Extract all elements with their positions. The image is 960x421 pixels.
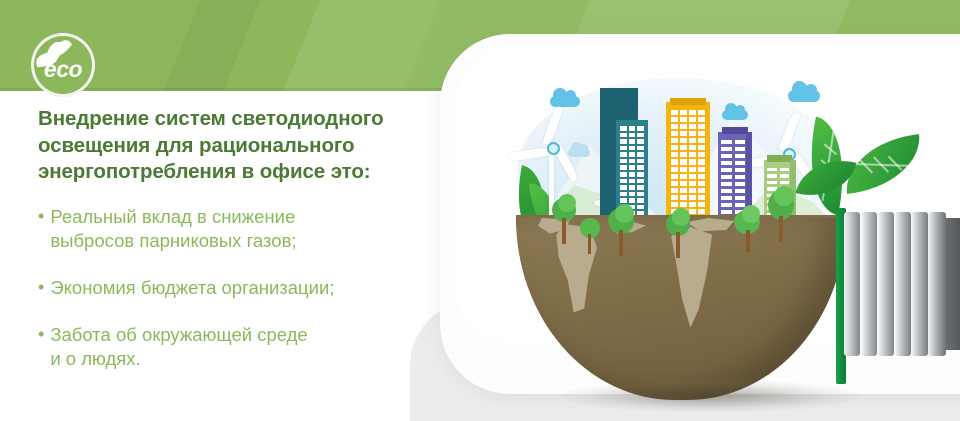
bulb-base-cap [944,218,960,350]
bullet-marker: • [38,276,44,299]
header-stripe-dark [152,0,269,91]
continent-south-america [664,224,724,330]
list-item-line: Экономия бюджета организации; [50,276,334,300]
bullet-marker: • [38,323,44,346]
cloud-icon [722,110,748,120]
eco-led-banner: eco Внедрение систем светодиодного освещ… [0,0,960,421]
benefits-list: • Реальный вклад в снижение выбросов пар… [38,205,438,394]
list-item-text: Забота об окружающей среде и о людях. [50,323,307,371]
list-item-line: выбросов парниковых газов; [50,229,296,253]
page-title: Внедрение систем светодиодного освещения… [38,106,438,186]
building-purple-windows [721,140,745,214]
building-purple-cap [722,127,748,134]
list-item-line: Реальный вклад в снижение [50,205,296,229]
list-item-line: и о людях. [50,347,307,371]
bulb-ridge [911,212,928,356]
building-teal-windows [620,126,644,216]
bulb-ridge [928,212,946,356]
bullet-marker: • [38,205,44,228]
earth-globe [516,218,846,400]
list-item: • Экономия бюджета организации; [38,276,438,300]
title-line-1: Внедрение систем светодиодного [38,106,438,133]
list-item-line: Забота об окружающей среде [50,323,307,347]
list-item: • Забота об окружающей среде и о людях. [38,323,438,371]
bulb-ridge [894,212,911,356]
list-item-text: Экономия бюджета организации; [50,276,334,300]
logo-text: eco [34,36,92,94]
drop-shadow [560,380,860,412]
building-yellow-cap [670,98,706,105]
bulb-ridge [844,212,860,356]
title-line-3: энергопотребления в офисе это: [38,159,438,186]
eco-lightbulb-illustration [470,60,940,400]
title-line-2: освещения для рационального [38,133,438,160]
bulb-ridge [860,212,877,356]
cloud-icon [788,90,820,102]
building-yellow-windows [671,110,705,214]
list-item-text: Реальный вклад в снижение выбросов парни… [50,205,296,253]
list-item: • Реальный вклад в снижение выбросов пар… [38,205,438,253]
bulb-ridge [877,212,894,356]
cloud-icon [550,96,580,107]
building-green-cap [767,155,792,162]
eco-logo: eco [34,36,92,94]
cloud-icon [568,148,590,157]
bulb-screw-base [844,212,960,356]
